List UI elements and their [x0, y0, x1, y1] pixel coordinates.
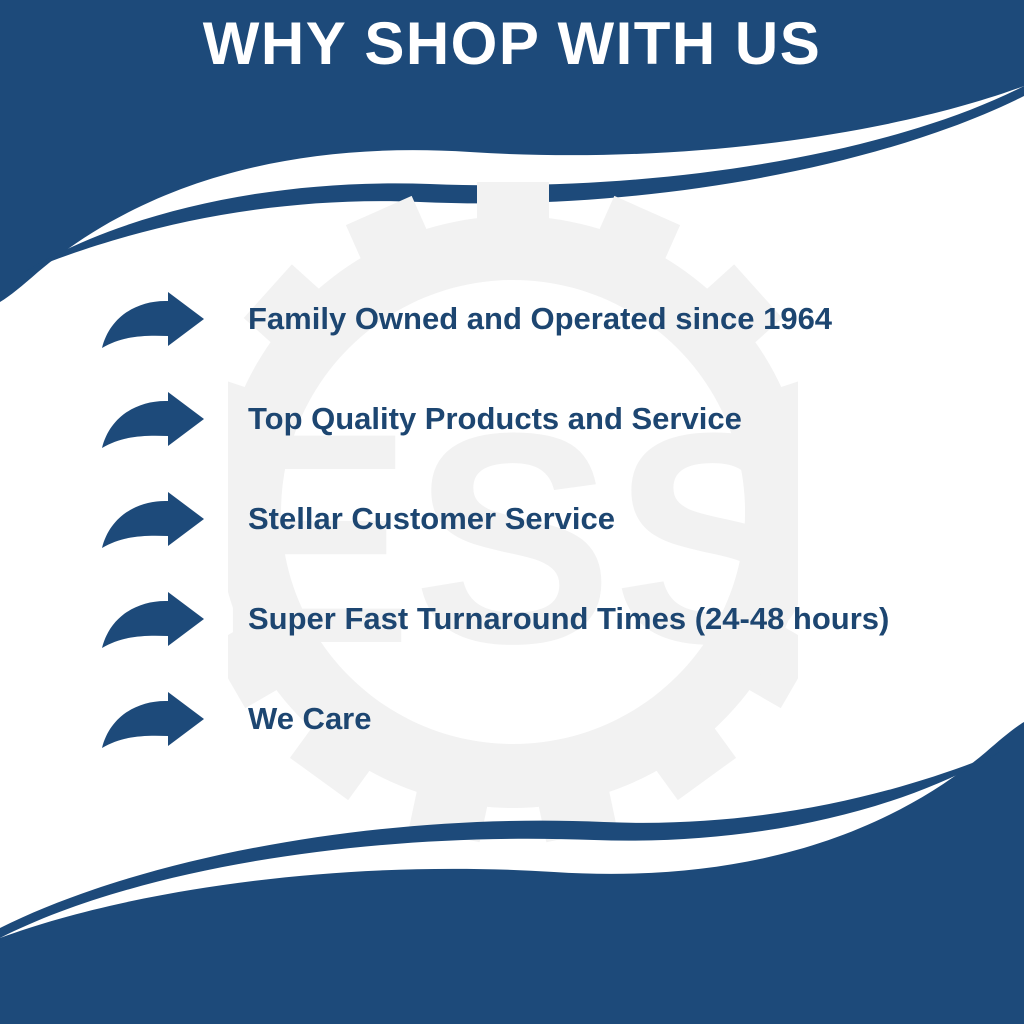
- list-item-label: Stellar Customer Service: [248, 488, 615, 550]
- list-item: Top Quality Products and Service: [100, 388, 980, 488]
- list-item: Stellar Customer Service: [100, 488, 980, 588]
- list-item: Family Owned and Operated since 1964: [100, 288, 980, 388]
- curved-arrow-right-icon: [100, 692, 210, 754]
- benefits-list: Family Owned and Operated since 1964 Top…: [100, 288, 980, 788]
- list-item-label: Family Owned and Operated since 1964: [248, 288, 832, 350]
- list-item-label: Super Fast Turnaround Times (24-48 hours…: [248, 588, 889, 650]
- list-item: Super Fast Turnaround Times (24-48 hours…: [100, 588, 980, 688]
- list-item-label: Top Quality Products and Service: [248, 388, 742, 450]
- promo-graphic: WHY SHOP WITH US: [0, 0, 1024, 1024]
- list-item: We Care: [100, 688, 980, 788]
- curved-arrow-right-icon: [100, 492, 210, 554]
- top-swoosh-line: [24, 86, 1024, 272]
- curved-arrow-right-icon: [100, 592, 210, 654]
- curved-arrow-right-icon: [100, 392, 210, 454]
- page-title: WHY SHOP WITH US: [0, 9, 1024, 79]
- list-item-label: We Care: [248, 688, 372, 750]
- curved-arrow-right-icon: [100, 292, 210, 354]
